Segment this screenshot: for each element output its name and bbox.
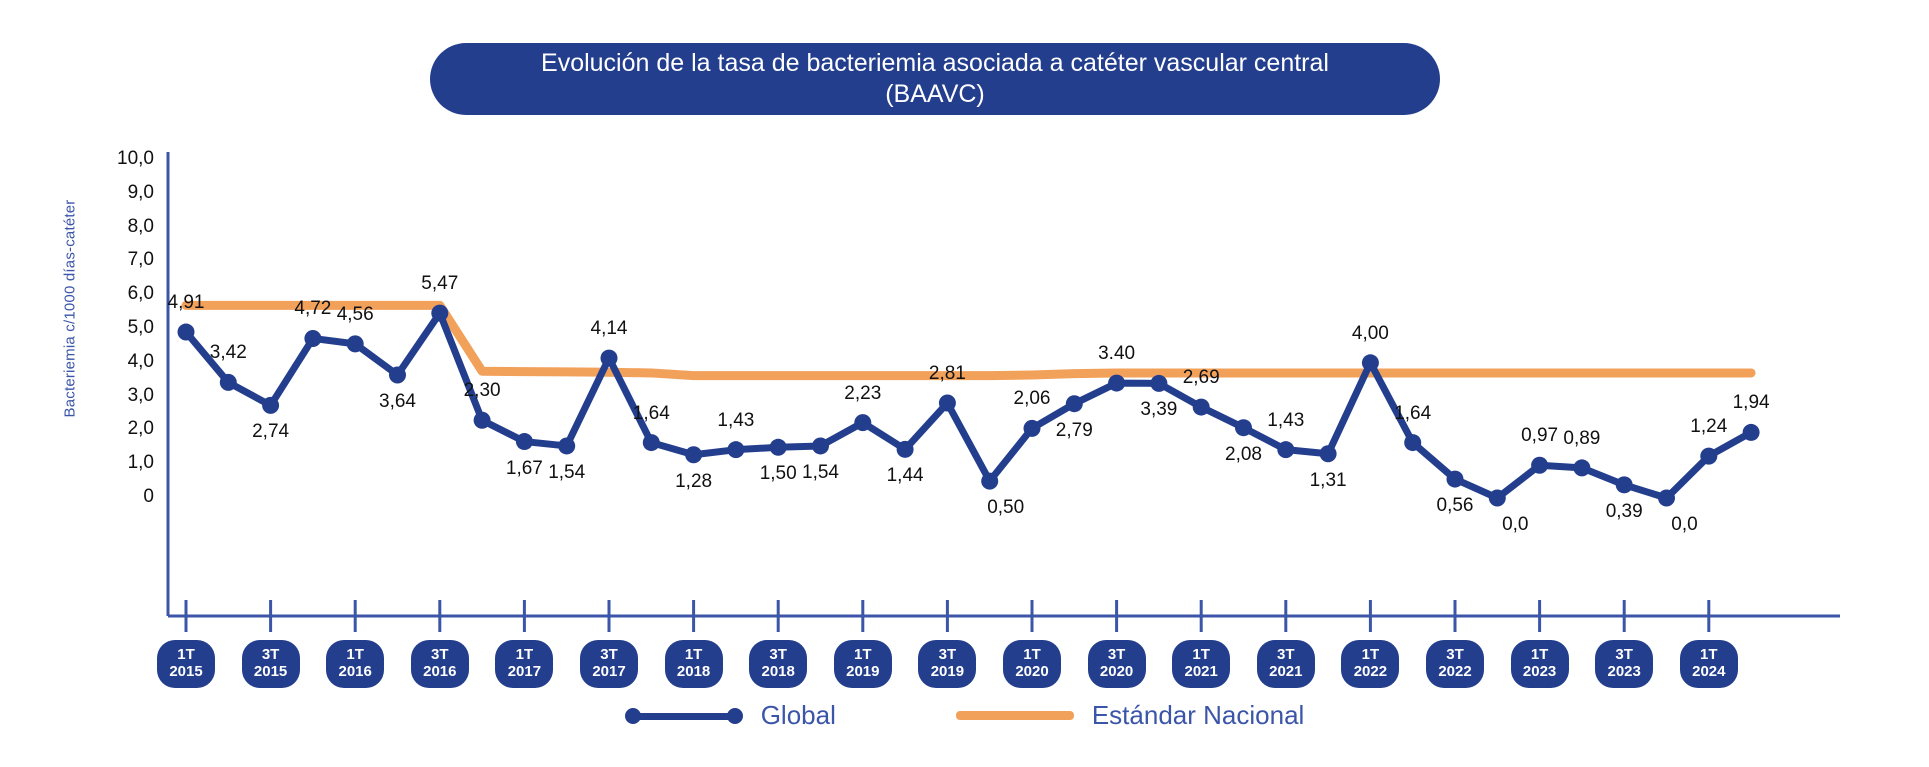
legend-label-global: Global	[761, 700, 836, 731]
x-axis-pill[interactable]: 3T 2017	[580, 640, 638, 688]
legend-label-estandar-nacional: Estándar Nacional	[1092, 700, 1304, 731]
legend-item-global[interactable]: Global	[625, 700, 836, 731]
legend-swatch-line-icon	[956, 711, 1074, 720]
legend-item-estandar-nacional[interactable]: Estándar Nacional	[956, 700, 1304, 731]
x-axis-pill[interactable]: 1T 2015	[157, 640, 215, 688]
x-axis-pill[interactable]: 3T 2023	[1595, 640, 1653, 688]
x-axis-category-pills: 1T 20153T 20151T 20163T 20161T 20173T 20…	[0, 0, 1929, 767]
x-axis-pill[interactable]: 1T 2019	[834, 640, 892, 688]
x-axis-pill[interactable]: 3T 2019	[918, 640, 976, 688]
legend-swatch-line-dots-icon	[625, 708, 743, 724]
x-axis-pill[interactable]: 1T 2021	[1172, 640, 1230, 688]
x-axis-pill[interactable]: 1T 2016	[326, 640, 384, 688]
x-axis-pill[interactable]: 1T 2020	[1003, 640, 1061, 688]
x-axis-pill[interactable]: 3T 2015	[242, 640, 300, 688]
x-axis-pill[interactable]: 3T 2020	[1088, 640, 1146, 688]
x-axis-pill[interactable]: 1T 2017	[495, 640, 553, 688]
x-axis-pill[interactable]: 1T 2018	[665, 640, 723, 688]
chart-container: Bacteriemia c/1000 días-catéter 10,09,08…	[0, 0, 1929, 767]
x-axis-pill[interactable]: 3T 2016	[411, 640, 469, 688]
x-axis-pill[interactable]: 1T 2023	[1511, 640, 1569, 688]
x-axis-pill[interactable]: 3T 2021	[1257, 640, 1315, 688]
x-axis-pill[interactable]: 3T 2022	[1426, 640, 1484, 688]
x-axis-pill[interactable]: 3T 2018	[749, 640, 807, 688]
x-axis-pill[interactable]: 1T 2024	[1680, 640, 1738, 688]
chart-legend: Global Estándar Nacional	[0, 700, 1929, 731]
x-axis-pill[interactable]: 1T 2022	[1341, 640, 1399, 688]
